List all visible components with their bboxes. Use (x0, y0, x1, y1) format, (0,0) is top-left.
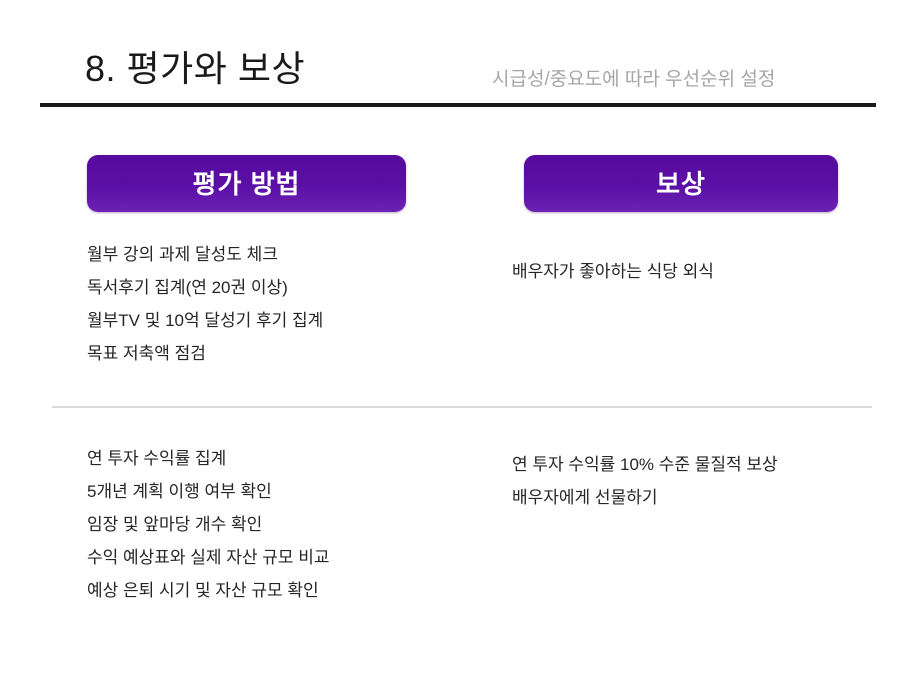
slide-header: 8. 평가와 보상 시급성/중요도에 따라 우선순위 설정 (40, 46, 876, 108)
list-item: 임장 및 앞마당 개수 확인 (87, 508, 330, 541)
page-subtitle: 시급성/중요도에 따라 우선순위 설정 (492, 68, 775, 93)
column-left: 평가 방법 (87, 155, 406, 212)
list-item: 5개년 계획 이행 여부 확인 (87, 475, 330, 508)
list-item: 연 투자 수익률 10% 수준 물질적 보상 (512, 448, 778, 481)
list-item: 월부TV 및 10억 달성기 후기 집계 (87, 304, 323, 337)
column-right: 보상 (524, 155, 838, 212)
banner-label: 평가 방법 (193, 171, 301, 197)
title-underline-rule (40, 103, 876, 107)
list-item: 월부 강의 과제 달성도 체크 (87, 238, 323, 271)
banner-evaluation-method: 평가 방법 (87, 155, 406, 212)
list-item: 연 투자 수익률 집계 (87, 442, 330, 475)
left-top-list: 월부 강의 과제 달성도 체크 독서후기 집계(연 20권 이상) 월부TV 및… (87, 238, 323, 370)
slide: 8. 평가와 보상 시급성/중요도에 따라 우선순위 설정 평가 방법 보상 월… (0, 0, 912, 684)
section-divider (52, 406, 872, 408)
list-item: 목표 저축액 점검 (87, 337, 323, 370)
list-item: 배우자가 좋아하는 식당 외식 (512, 255, 714, 288)
banner-reward: 보상 (524, 155, 838, 212)
list-item: 예상 은퇴 시기 및 자산 규모 확인 (87, 574, 330, 607)
right-top-list: 배우자가 좋아하는 식당 외식 (512, 255, 714, 288)
list-item: 배우자에게 선물하기 (512, 481, 778, 514)
right-bottom-list: 연 투자 수익률 10% 수준 물질적 보상 배우자에게 선물하기 (512, 448, 778, 514)
left-bottom-list: 연 투자 수익률 집계 5개년 계획 이행 여부 확인 임장 및 앞마당 개수 … (87, 442, 330, 607)
list-item: 수익 예상표와 실제 자산 규모 비교 (87, 541, 330, 574)
list-item: 독서후기 집계(연 20권 이상) (87, 271, 323, 304)
page-title: 8. 평가와 보상 (85, 46, 305, 91)
banner-label: 보상 (656, 171, 706, 197)
